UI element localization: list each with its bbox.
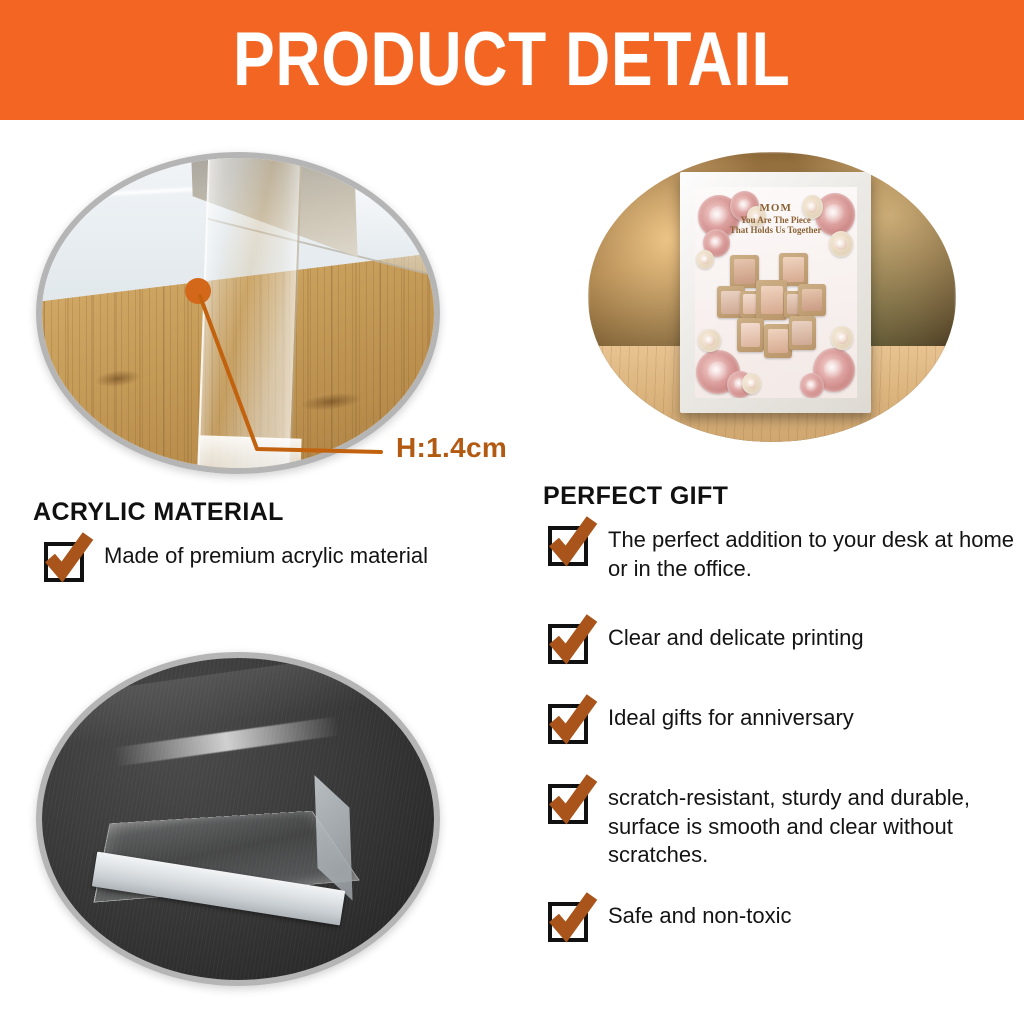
feature-item: The perfect addition to your desk at hom… <box>548 526 1016 583</box>
frame-headline: MOM You Are The Piece That Holds Us Toge… <box>704 202 846 236</box>
acrylic-block-edge <box>197 152 303 474</box>
puzzle-piece <box>764 324 792 358</box>
checkbox-icon <box>548 624 588 664</box>
rose-icon <box>698 329 721 352</box>
rose-icon <box>696 250 714 269</box>
checkbox-icon <box>548 704 588 744</box>
header-banner: PRODUCT DETAIL <box>0 0 1024 120</box>
section-title-acrylic-material: ACRYLIC MATERIAL <box>33 498 284 527</box>
wood-knot-icon <box>299 390 362 413</box>
rose-icon <box>831 326 854 349</box>
checkbox-icon <box>44 542 84 582</box>
page-title: PRODUCT DETAIL <box>233 22 790 98</box>
rose-icon <box>800 373 824 398</box>
wood-knot-icon <box>94 367 142 388</box>
checkmark-icon <box>546 773 600 827</box>
checkmark-icon <box>546 515 600 569</box>
photo-acrylic-slab <box>36 652 440 986</box>
feature-label: Made of premium acrylic material <box>104 542 428 571</box>
puzzle-piece <box>737 318 765 352</box>
rose-icon <box>742 373 761 394</box>
white-photo-frame: MOM You Are The Piece That Holds Us Toge… <box>680 172 871 413</box>
feature-label: Ideal gifts for anniversary <box>608 704 854 733</box>
product-detail-infographic: PRODUCT DETAIL H:1.4cm <box>0 0 1024 1024</box>
feature-label: Clear and delicate printing <box>608 624 864 653</box>
feature-label: The perfect addition to your desk at hom… <box>608 526 1016 583</box>
feature-label: scratch-resistant, sturdy and durable, s… <box>608 784 1016 870</box>
photo-acrylic-edge <box>36 152 440 474</box>
photo-gift-frame: MOM You Are The Piece That Holds Us Toge… <box>588 152 956 442</box>
acrylic-block-foot <box>198 435 301 474</box>
feature-item: Clear and delicate printing <box>548 624 864 664</box>
checkmark-icon <box>546 891 600 945</box>
feature-item: Ideal gifts for anniversary <box>548 704 854 744</box>
feature-label: Safe and non-toxic <box>608 902 791 931</box>
puzzle-piece <box>730 255 759 289</box>
checkbox-icon <box>548 902 588 942</box>
checkmark-icon <box>546 613 600 667</box>
puzzle-piece <box>789 316 817 350</box>
frame-headline-line1: MOM <box>704 202 846 215</box>
feature-item: Safe and non-toxic <box>548 902 791 942</box>
frame-artwork: MOM You Are The Piece That Holds Us Toge… <box>695 187 857 398</box>
checkbox-icon <box>548 526 588 566</box>
height-dimension-label: H:1.4cm <box>396 432 507 464</box>
puzzle-piece <box>756 280 787 320</box>
puzzle-piece <box>798 284 826 316</box>
checkmark-icon <box>42 531 96 585</box>
frame-headline-line3: That Holds Us Together <box>704 225 846 235</box>
feature-item: scratch-resistant, sturdy and durable, s… <box>548 784 1016 870</box>
feature-item: Made of premium acrylic material <box>44 542 428 582</box>
frame-headline-line2: You Are The Piece <box>704 215 846 225</box>
section-title-perfect-gift: PERFECT GIFT <box>543 482 728 511</box>
checkmark-icon <box>546 693 600 747</box>
checkbox-icon <box>548 784 588 824</box>
